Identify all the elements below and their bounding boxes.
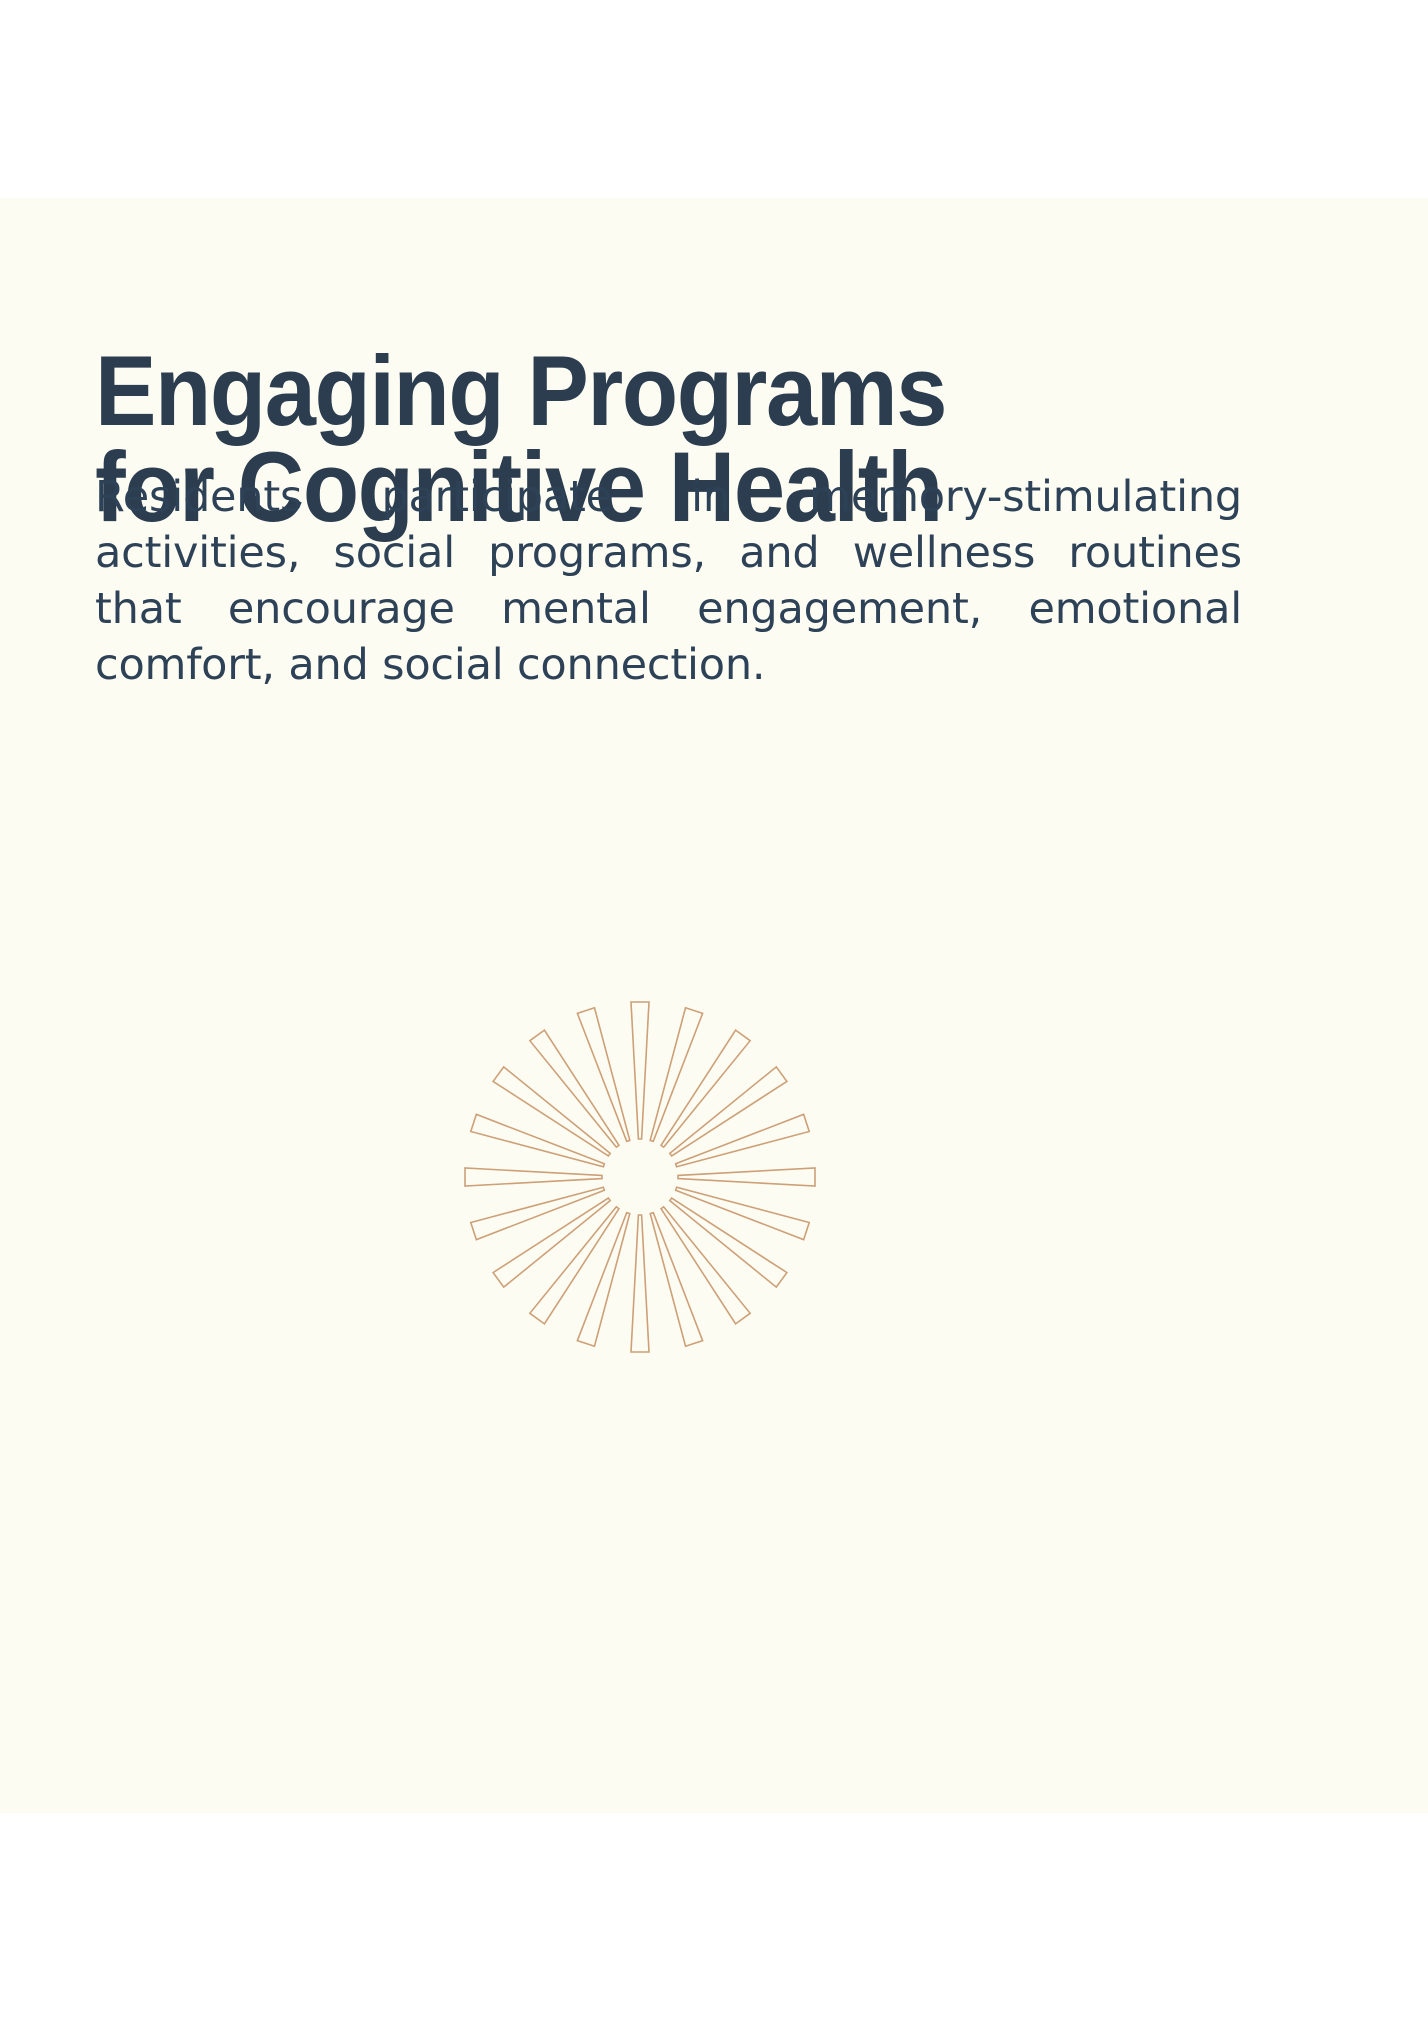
starburst-ray xyxy=(631,1002,649,1139)
starburst-ornament xyxy=(455,992,825,1362)
body-paragraph: Residents participate in memory-stimulat… xyxy=(95,470,1242,694)
starburst-icon xyxy=(455,992,825,1362)
starburst-ray xyxy=(678,1168,815,1186)
starburst-ray xyxy=(631,1215,649,1352)
poster-canvas: Engaging Programs for Cognitive Health R… xyxy=(0,0,1428,2018)
starburst-rays xyxy=(465,1002,815,1352)
starburst-ray xyxy=(465,1168,602,1186)
